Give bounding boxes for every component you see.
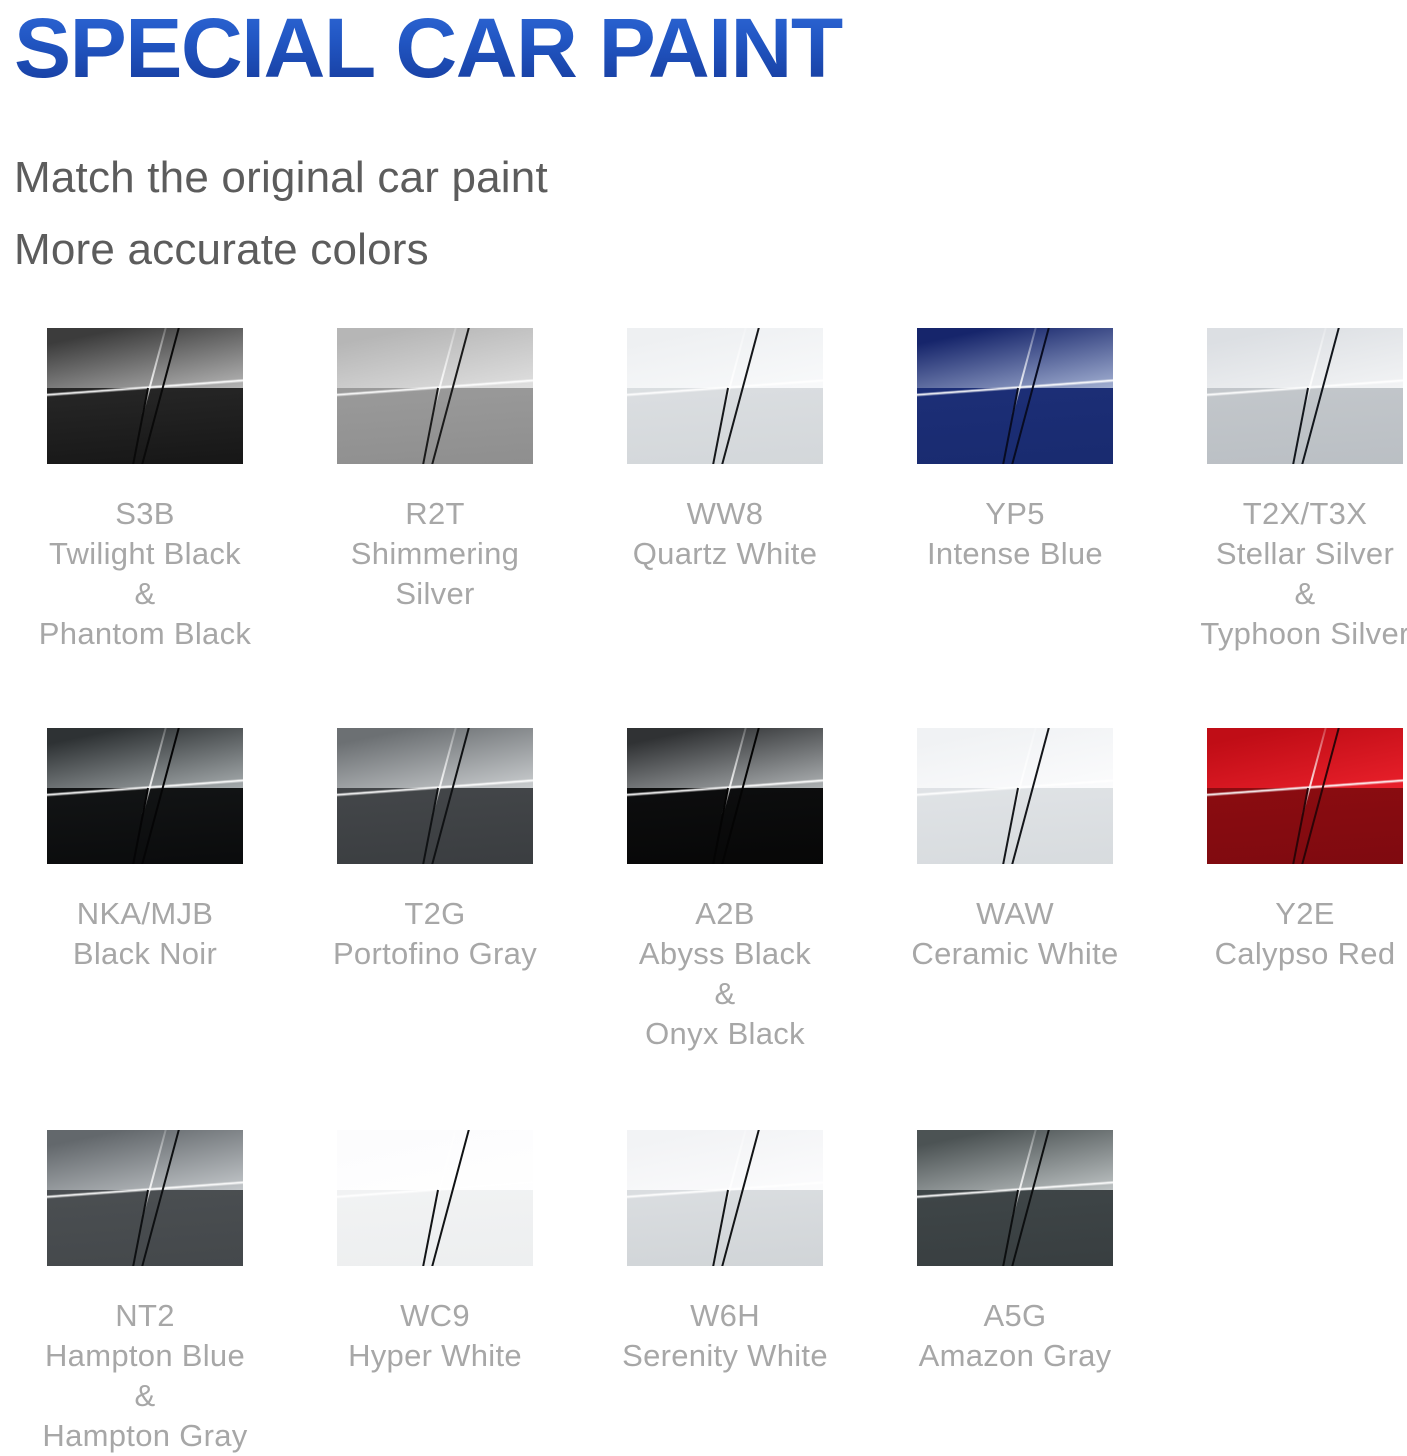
paint-name-line: Typhoon Silver	[1160, 614, 1407, 654]
paint-name-label: Abyss Black&Onyx Black	[580, 934, 870, 1054]
paint-name-label: Hampton Blue&Hampton Gray	[0, 1336, 290, 1456]
paint-swatch-labels: NKA/MJBBlack Noir	[0, 894, 290, 974]
paint-name-line: Amazon Gray	[870, 1336, 1160, 1376]
paint-name-line: Calypso Red	[1160, 934, 1407, 974]
paint-swatch-cell[interactable]: A2BAbyss Black&Onyx Black	[580, 728, 870, 1054]
paint-swatch-labels: NT2Hampton Blue&Hampton Gray	[0, 1296, 290, 1456]
paint-name-line: &	[0, 574, 290, 614]
paint-name-line: Hampton Gray	[0, 1416, 290, 1456]
paint-code-label: NT2	[0, 1296, 290, 1336]
paint-swatch-cell[interactable]: R2TShimmeringSilver	[290, 328, 580, 614]
paint-name-line: Hyper White	[290, 1336, 580, 1376]
paint-name-label: Hyper White	[290, 1336, 580, 1376]
page-title: SPECIAL CAR PAINT	[14, 4, 1407, 90]
paint-swatch-cell[interactable]: NKA/MJBBlack Noir	[0, 728, 290, 974]
paint-swatch-labels: YP5Intense Blue	[870, 494, 1160, 574]
paint-code-label: T2G	[290, 894, 580, 934]
paint-name-label: Portofino Gray	[290, 934, 580, 974]
paint-swatch-labels: W6HSerenity White	[580, 1296, 870, 1376]
car-panel-swatch-image	[917, 728, 1113, 864]
paint-swatch-cell[interactable]: S3BTwilight Black&Phantom Black	[0, 328, 290, 654]
paint-swatch-labels: T2X/T3XStellar Silver&Typhoon Silver	[1160, 494, 1407, 654]
paint-name-line: Quartz White	[580, 534, 870, 574]
car-panel-swatch-image	[627, 328, 823, 464]
paint-name-line: Shimmering	[290, 534, 580, 574]
paint-code-label: T2X/T3X	[1160, 494, 1407, 534]
car-panel-swatch-image	[47, 728, 243, 864]
paint-name-line: Onyx Black	[580, 1014, 870, 1054]
paint-code-label: S3B	[0, 494, 290, 534]
paint-name-label: Amazon Gray	[870, 1336, 1160, 1376]
paint-swatch-labels: Y2ECalypso Red	[1160, 894, 1407, 974]
paint-name-label: Calypso Red	[1160, 934, 1407, 974]
subtitle-line-1: Match the original car paint	[14, 142, 1407, 214]
paint-name-label: Serenity White	[580, 1336, 870, 1376]
paint-name-label: ShimmeringSilver	[290, 534, 580, 614]
car-panel-swatch-image	[47, 328, 243, 464]
car-panel-swatch-image	[627, 1130, 823, 1266]
paint-name-line: Portofino Gray	[290, 934, 580, 974]
paint-name-line: Serenity White	[580, 1336, 870, 1376]
paint-swatch-cell[interactable]: W6HSerenity White	[580, 1130, 870, 1376]
paint-name-label: Quartz White	[580, 534, 870, 574]
paint-swatch-labels: S3BTwilight Black&Phantom Black	[0, 494, 290, 654]
paint-code-label: A5G	[870, 1296, 1160, 1336]
car-panel-swatch-image	[1207, 328, 1403, 464]
paint-name-line: Twilight Black	[0, 534, 290, 574]
paint-name-line: Silver	[290, 574, 580, 614]
paint-code-label: WAW	[870, 894, 1160, 934]
page-root: SPECIAL CAR PAINT Match the original car…	[0, 4, 1407, 1435]
paint-swatch-labels: A5GAmazon Gray	[870, 1296, 1160, 1376]
paint-code-label: WC9	[290, 1296, 580, 1336]
paint-swatch-labels: WC9Hyper White	[290, 1296, 580, 1376]
paint-name-line: Intense Blue	[870, 534, 1160, 574]
paint-name-line: Stellar Silver	[1160, 534, 1407, 574]
car-panel-swatch-image	[47, 1130, 243, 1266]
header: SPECIAL CAR PAINT Match the original car…	[0, 4, 1407, 286]
paint-code-label: Y2E	[1160, 894, 1407, 934]
paint-name-line: Phantom Black	[0, 614, 290, 654]
paint-swatch-cell[interactable]: WAWCeramic White	[870, 728, 1160, 974]
paint-code-label: WW8	[580, 494, 870, 534]
subtitle-block: Match the original car paint More accura…	[14, 142, 1407, 286]
paint-swatch-cell[interactable]: T2X/T3XStellar Silver&Typhoon Silver	[1160, 328, 1407, 654]
paint-swatch-cell[interactable]: A5GAmazon Gray	[870, 1130, 1160, 1376]
paint-swatch-cell[interactable]: WC9Hyper White	[290, 1130, 580, 1376]
paint-name-line: Hampton Blue	[0, 1336, 290, 1376]
paint-name-label: Stellar Silver&Typhoon Silver	[1160, 534, 1407, 654]
car-panel-swatch-image	[337, 328, 533, 464]
paint-code-label: NKA/MJB	[0, 894, 290, 934]
car-panel-swatch-image	[337, 728, 533, 864]
paint-swatch-labels: WAWCeramic White	[870, 894, 1160, 974]
paint-name-line: &	[1160, 574, 1407, 614]
paint-name-line: &	[0, 1376, 290, 1416]
paint-swatch-labels: A2BAbyss Black&Onyx Black	[580, 894, 870, 1054]
car-panel-swatch-image	[1207, 728, 1403, 864]
paint-name-line: Abyss Black	[580, 934, 870, 974]
paint-name-line: Ceramic White	[870, 934, 1160, 974]
paint-swatch-grid: S3BTwilight Black&Phantom BlackR2TShimme…	[0, 328, 1407, 1456]
paint-name-line: Black Noir	[0, 934, 290, 974]
paint-swatch-cell[interactable]: YP5Intense Blue	[870, 328, 1160, 574]
car-panel-swatch-image	[917, 328, 1113, 464]
paint-swatch-cell[interactable]: NT2Hampton Blue&Hampton Gray	[0, 1130, 290, 1456]
car-panel-swatch-image	[917, 1130, 1113, 1266]
paint-swatch-labels: WW8Quartz White	[580, 494, 870, 574]
swatch-row-3: NT2Hampton Blue&Hampton GrayWC9Hyper Whi…	[0, 1130, 1407, 1456]
paint-name-label: Twilight Black&Phantom Black	[0, 534, 290, 654]
paint-swatch-labels: T2GPortofino Gray	[290, 894, 580, 974]
paint-swatch-cell[interactable]: Y2ECalypso Red	[1160, 728, 1407, 974]
paint-code-label: YP5	[870, 494, 1160, 534]
swatch-row-2: NKA/MJBBlack NoirT2GPortofino GrayA2BAby…	[0, 728, 1407, 1054]
paint-swatch-labels: R2TShimmeringSilver	[290, 494, 580, 614]
paint-code-label: A2B	[580, 894, 870, 934]
paint-code-label: W6H	[580, 1296, 870, 1336]
paint-name-label: Ceramic White	[870, 934, 1160, 974]
paint-name-label: Black Noir	[0, 934, 290, 974]
car-panel-swatch-image	[627, 728, 823, 864]
paint-code-label: R2T	[290, 494, 580, 534]
paint-swatch-cell[interactable]: T2GPortofino Gray	[290, 728, 580, 974]
paint-swatch-cell[interactable]: WW8Quartz White	[580, 328, 870, 574]
car-panel-swatch-image	[337, 1130, 533, 1266]
paint-name-label: Intense Blue	[870, 534, 1160, 574]
paint-name-line: &	[580, 974, 870, 1014]
swatch-row-1: S3BTwilight Black&Phantom BlackR2TShimme…	[0, 328, 1407, 654]
subtitle-line-2: More accurate colors	[14, 214, 1407, 286]
